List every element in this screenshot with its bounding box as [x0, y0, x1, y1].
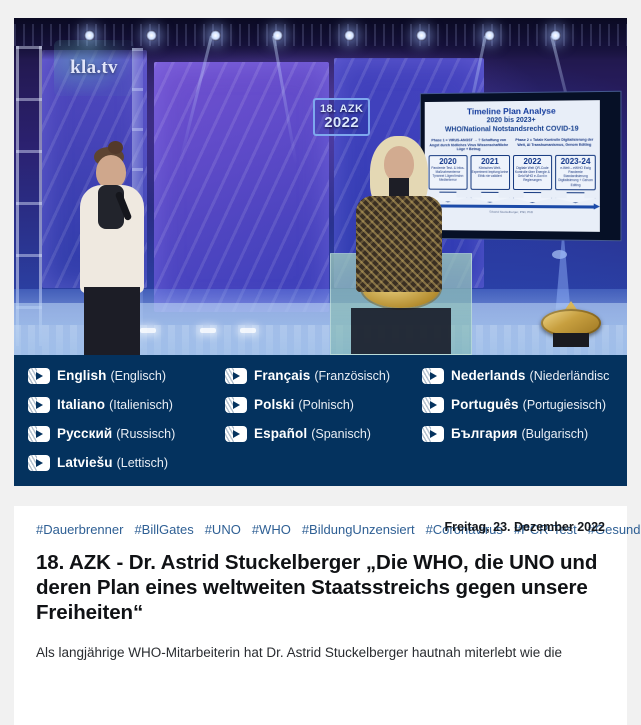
- article-date: Freitag, 23. Dezember 2022: [445, 520, 606, 534]
- play-icon: [225, 426, 247, 442]
- language-column-1: English (Englisch) Italiano (Italienisch…: [28, 361, 228, 477]
- language-german-name: (Spanisch): [311, 427, 371, 441]
- slide-year-label: 2023-24: [556, 157, 594, 166]
- language-link-italiano[interactable]: Italiano (Italienisch): [28, 390, 228, 419]
- language-german-name: (Bulgarisch): [521, 427, 588, 441]
- article-lead-paragraph: Als langjährige WHO-Mitarbeiterin hat Dr…: [36, 643, 605, 663]
- play-icon: [28, 368, 50, 384]
- hashtag-link[interactable]: #UNO: [205, 522, 241, 537]
- slide-phase-2: Phase 2 = Totale Kontrolle Digitalisieru…: [513, 138, 596, 152]
- stage-lamp: [344, 30, 355, 41]
- play-icon: [422, 368, 444, 384]
- slide-year-box: 2021 Klinisches Welt-Experiment Impfung …: [470, 155, 509, 190]
- hashtag-list: #Dauerbrenner#BillGates#UNO#WHO#BildungU…: [36, 520, 436, 540]
- language-link-latviesu[interactable]: Latviešu (Lettisch): [28, 448, 228, 477]
- page-root: Timeline Plan Analyse 2020 bis 2023+ WHO…: [0, 0, 641, 725]
- slide-subtitle-2: WHO/National Notstandsrecht COVID-19: [425, 124, 600, 134]
- floor-light: [200, 328, 216, 333]
- watermark-text: kla.tv: [70, 57, 118, 78]
- stage-lamp: [146, 30, 157, 41]
- language-name: Polski: [254, 397, 294, 412]
- language-german-name: (Englisch): [110, 369, 166, 383]
- language-name: Latviešu: [57, 455, 113, 470]
- slide-year-detail: Digitale Welt QR-Code Kontrolle über Ene…: [514, 166, 552, 183]
- language-column-3: Nederlands (Niederländisc Português (Por…: [422, 361, 637, 448]
- language-german-name: (Polnisch): [298, 398, 354, 412]
- article-card: #Dauerbrenner#BillGates#UNO#WHO#BildungU…: [14, 506, 627, 725]
- language-german-name: (Französisch): [314, 369, 390, 383]
- play-icon: [28, 426, 50, 442]
- language-name: English: [57, 368, 106, 383]
- article-headline: 18. AZK - Dr. Astrid Stuckelberger „Die …: [36, 550, 605, 625]
- language-link-francais[interactable]: Français (Französisch): [225, 361, 425, 390]
- article-meta-row: #Dauerbrenner#BillGates#UNO#WHO#BildungU…: [36, 520, 605, 540]
- slide-year-box: 2023-24 e-Welt – eWHO Ewig Pandemie Stan…: [555, 155, 595, 190]
- slide-arrow-row: [429, 191, 596, 203]
- language-name: Italiano: [57, 397, 105, 412]
- language-name: Русский: [57, 426, 112, 441]
- play-icon: [28, 455, 50, 471]
- language-link-espanol[interactable]: Español (Spanisch): [225, 419, 425, 448]
- language-german-name: (Italienisch): [109, 398, 173, 412]
- play-icon: [28, 397, 50, 413]
- slide-year-label: 2021: [471, 157, 508, 166]
- down-arrow-icon: [513, 192, 553, 203]
- down-arrow-icon: [555, 192, 595, 203]
- play-icon: [422, 426, 444, 442]
- play-icon: [225, 397, 247, 413]
- language-link-polski[interactable]: Polski (Polnisch): [225, 390, 425, 419]
- stage-lamp: [416, 30, 427, 41]
- slide-timeline-arrow-icon: [431, 204, 594, 208]
- hashtag-link[interactable]: #BildungUnzensiert: [302, 522, 415, 537]
- language-name: Português: [451, 397, 519, 412]
- language-link-portugues[interactable]: Português (Portugiesisch): [422, 390, 637, 419]
- language-name: България: [451, 426, 517, 441]
- event-badge-line2: 2022: [320, 115, 363, 130]
- klatv-watermark: kla.tv: [58, 44, 130, 92]
- slide-year-box: 2022 Digitale Welt QR-Code Kontrolle übe…: [513, 155, 553, 190]
- presenter-speaker: [344, 140, 452, 355]
- floor-light: [240, 328, 256, 333]
- presenter-moderator: [74, 155, 152, 355]
- video-player[interactable]: Timeline Plan Analyse 2020 bis 2023+ WHO…: [14, 18, 627, 355]
- azk-gold-logo: [539, 299, 603, 345]
- language-link-russkij[interactable]: Русский (Russisch): [28, 419, 228, 448]
- slide-year-detail: e-Welt – eWHO Ewig Pandemie Standardisie…: [556, 166, 594, 187]
- language-name: Español: [254, 426, 307, 441]
- language-german-name: (Lettisch): [117, 456, 168, 470]
- language-name: Nederlands: [451, 368, 526, 383]
- slide-year-detail: Klinisches Welt-Experiment Impfung keine…: [471, 166, 508, 179]
- hashtag-link[interactable]: #BillGates: [134, 522, 193, 537]
- language-link-english[interactable]: English (Englisch): [28, 361, 228, 390]
- language-german-name: (Niederländisc: [530, 369, 610, 383]
- hashtag-link[interactable]: #WHO: [252, 522, 291, 537]
- language-link-nederlands[interactable]: Nederlands (Niederländisc: [422, 361, 637, 390]
- event-badge: 18. AZK 2022: [313, 98, 370, 136]
- language-name: Français: [254, 368, 310, 383]
- language-link-bulgarian[interactable]: България (Bulgarisch): [422, 419, 637, 448]
- play-icon: [225, 368, 247, 384]
- led-wall-center: [154, 62, 329, 312]
- language-german-name: (Portugiesisch): [523, 398, 606, 412]
- play-icon: [422, 397, 444, 413]
- down-arrow-icon: [470, 192, 509, 203]
- hashtag-link[interactable]: #Dauerbrenner: [36, 522, 123, 537]
- language-selection-panel: English (Englisch) Italiano (Italienisch…: [14, 355, 627, 486]
- slide-year-label: 2022: [514, 157, 552, 166]
- language-german-name: (Russisch): [116, 427, 175, 441]
- language-column-2: Français (Französisch) Polski (Polnisch)…: [225, 361, 425, 448]
